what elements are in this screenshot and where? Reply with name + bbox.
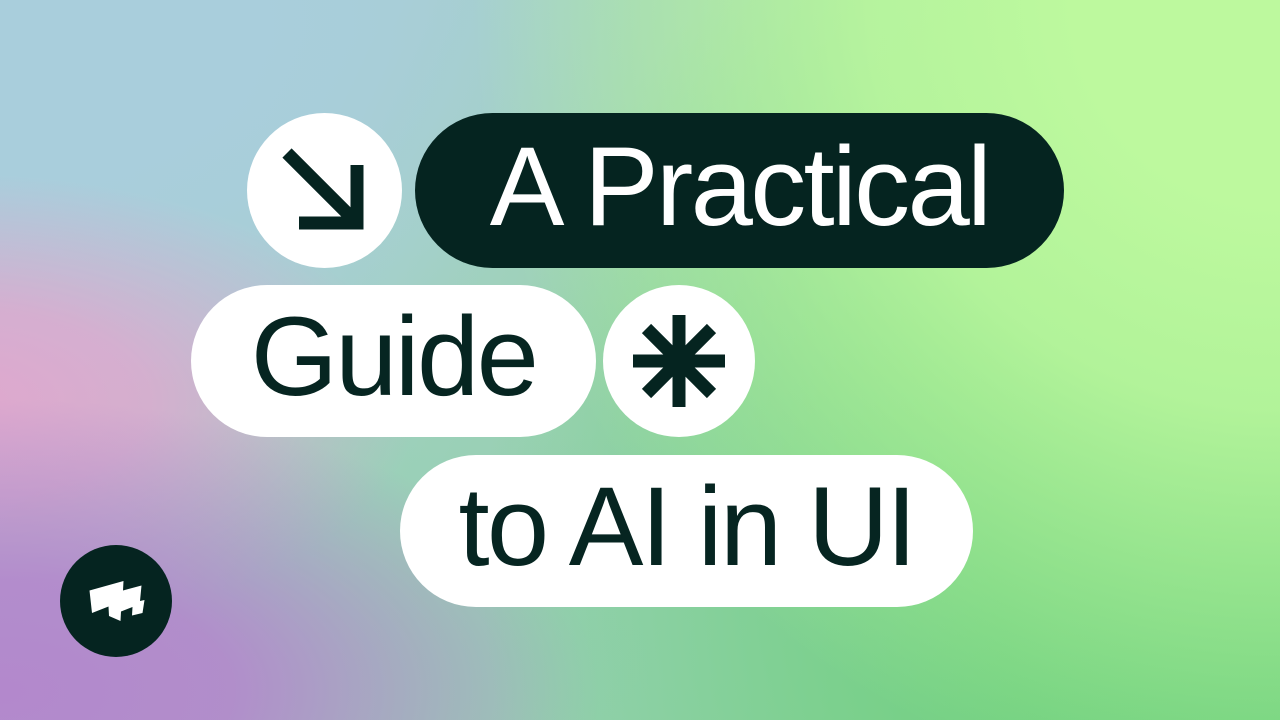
headline-line-3: to AI in UI xyxy=(400,455,973,607)
headline-line-2: Guide xyxy=(191,285,755,437)
headline-line-1: A Practical xyxy=(247,113,1064,268)
headline-text-line-3: to AI in UI xyxy=(458,471,914,583)
headline-block: A Practical Guide to AI in UI xyxy=(0,0,1280,720)
headline-pill-practical: A Practical xyxy=(415,113,1064,268)
asterisk-badge xyxy=(603,285,755,437)
headline-text-line-2: Guide xyxy=(251,301,536,413)
brand-logo[interactable] xyxy=(60,545,172,657)
headline-pill-ai-in-ui: to AI in UI xyxy=(400,455,973,607)
brand-lightning-mark-icon xyxy=(85,573,147,629)
arrow-down-right-badge xyxy=(247,113,402,268)
arrow-down-right-icon xyxy=(273,139,377,243)
headline-text-line-1: A Practical xyxy=(490,131,990,243)
headline-pill-guide: Guide xyxy=(191,285,596,437)
asterisk-icon xyxy=(627,309,731,413)
